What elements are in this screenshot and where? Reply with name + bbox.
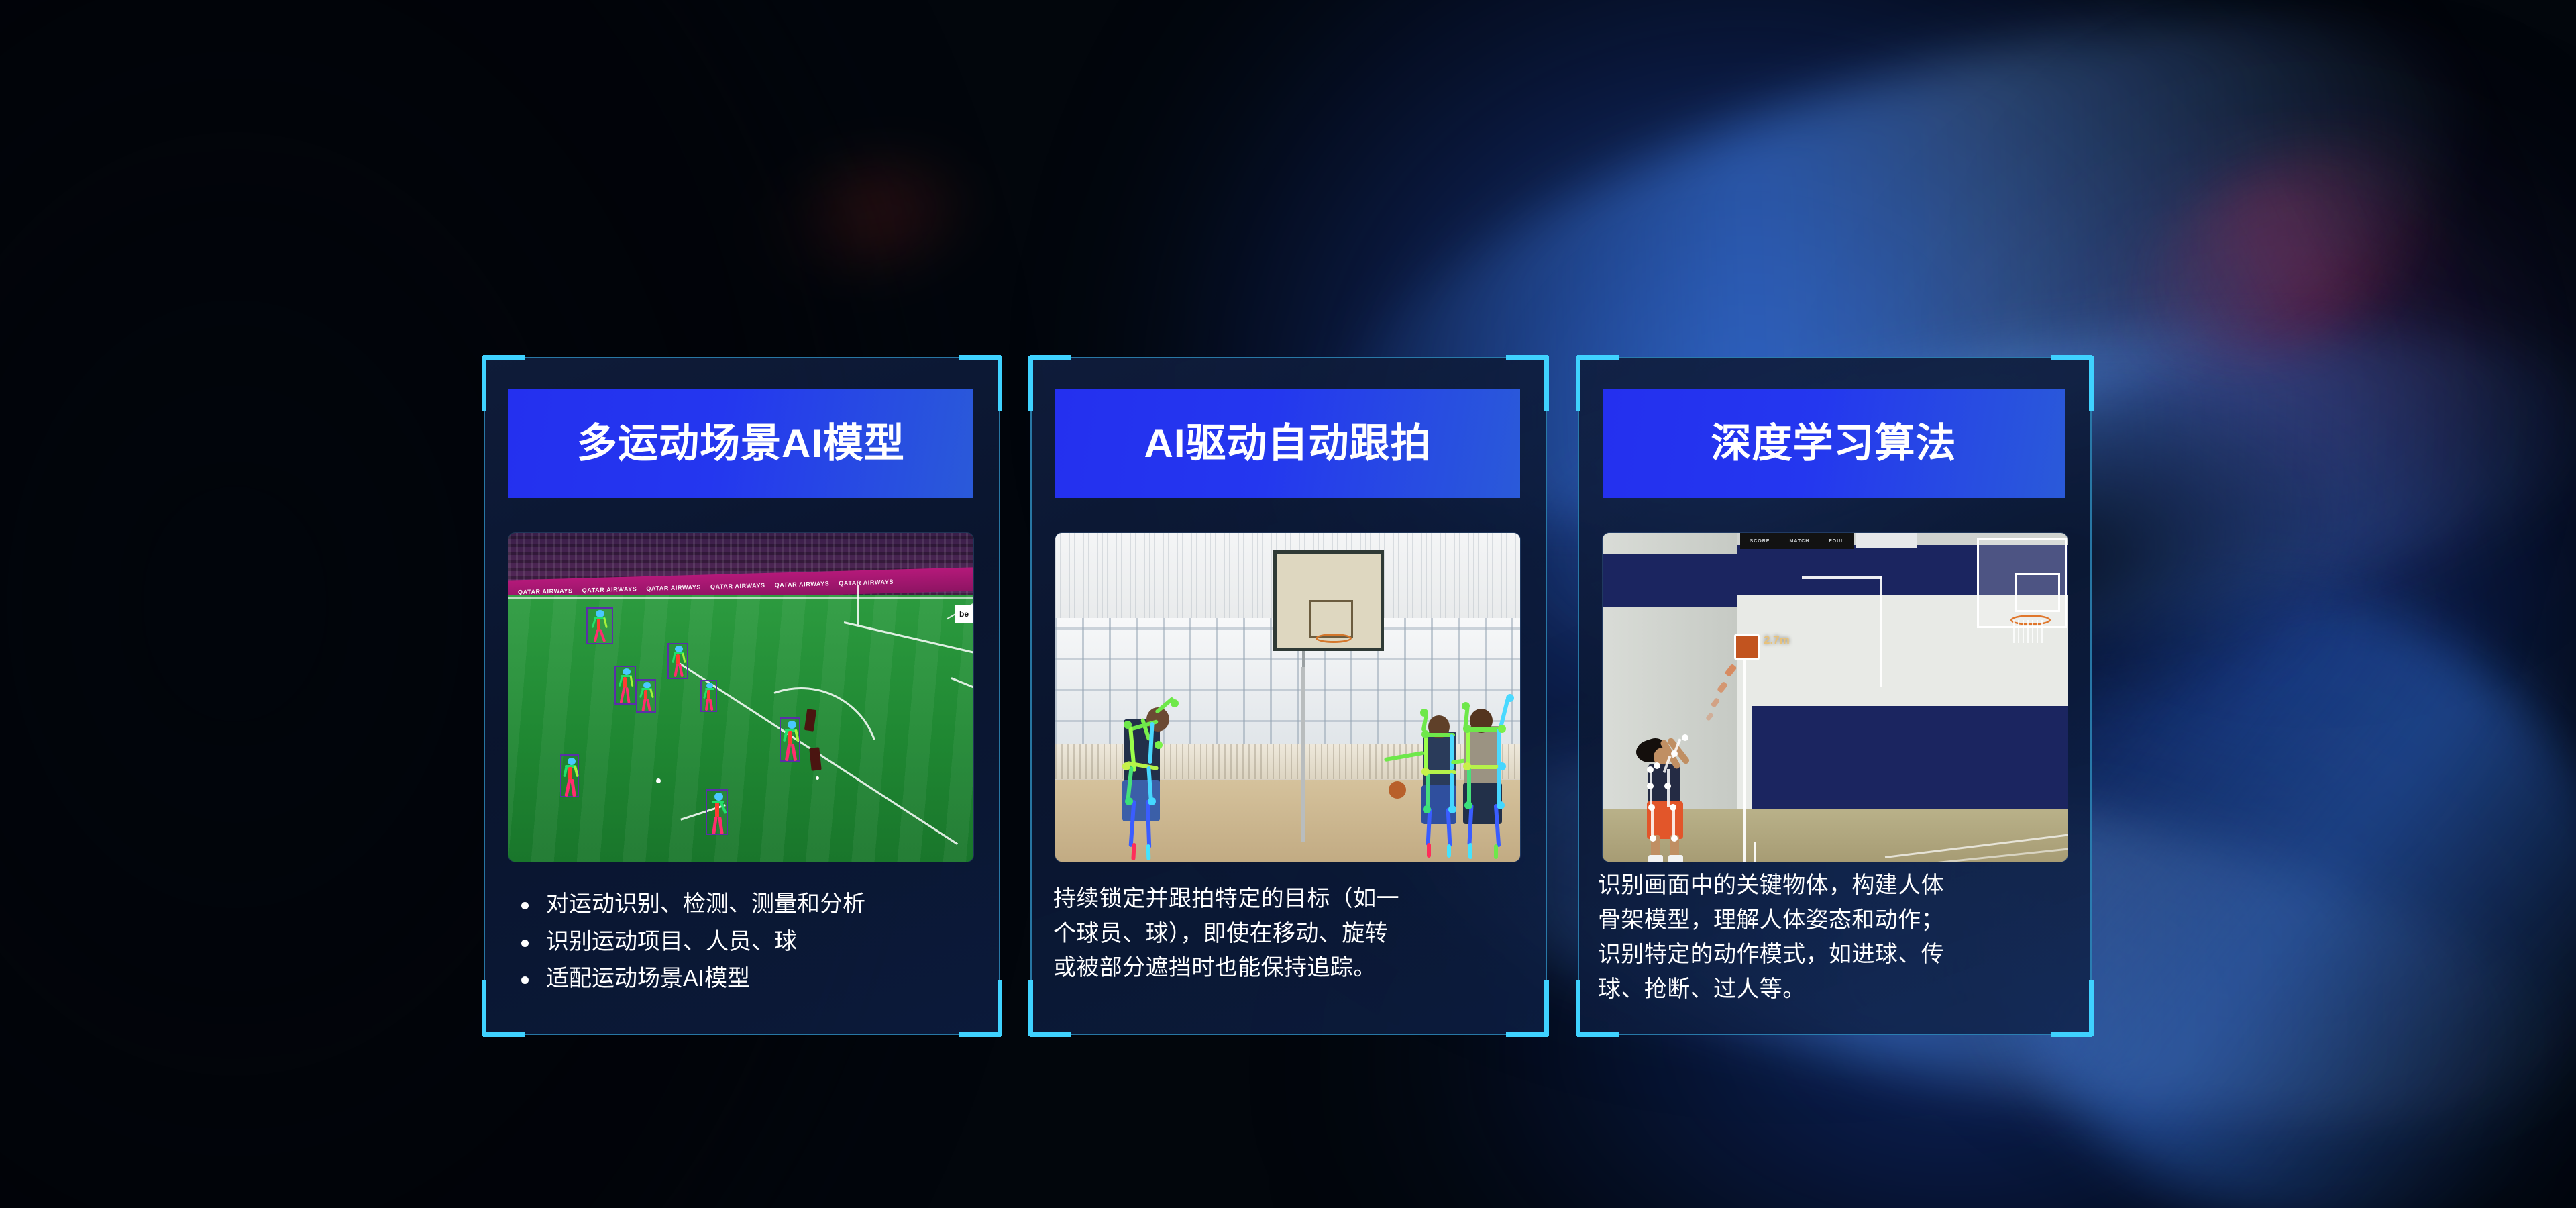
joint-node [1463,762,1471,770]
bullet-dot-icon [521,902,529,909]
detection-box [780,717,800,762]
paragraph-line: 识别特定的动作模式，如进球、传 [1598,938,2076,972]
list-item-label: 适配运动场景AI模型 [546,962,750,997]
scoreboard-label: MATCH [1790,539,1810,544]
scoreboard: SCORE MATCH FOUL [1740,533,1854,549]
wall-navy-pad-lower [1747,706,2068,813]
list-item: 对运动识别、检测、测量和分析 [511,887,977,922]
bullet-dot-icon [521,976,529,984]
joint-node [1148,797,1156,805]
basketball [1389,781,1406,799]
backboard-inner-square [1309,600,1353,638]
pose-bone [1650,769,1652,807]
joint-node [1124,721,1132,729]
joint-node [1421,768,1430,776]
joint-node [1464,801,1472,809]
joint-node [1682,734,1688,741]
sponsor-text: QATAR AIRWAYS [518,587,573,595]
sponsor-text: QATAR AIRWAYS [710,582,765,590]
card-title: 深度学习算法 [1711,423,1957,464]
backboard-inner-square [2015,573,2060,612]
football [816,776,819,780]
gym-basketball-pose-image [1055,533,1520,862]
bullet-dot-icon [521,940,529,947]
feature-bullet-list: 对运动识别、检测、测量和分析 识别运动项目、人员、球 适配运动场景AI模型 [511,887,977,997]
measure-line-vertical [1880,576,1882,687]
paragraph-line: 骨架模型，理解人体姿态和动作； [1598,903,2076,938]
paragraph-line: 持续锁定并跟拍特定的目标（如一 [1053,882,1528,917]
list-item-label: 识别运动项目、人员、球 [546,925,797,960]
card-header-deep-learning-algorithm: 深度学习算法 [1603,389,2065,498]
pitch-line-top [508,597,973,599]
tracking-line-vertical-2 [1754,842,1756,862]
scoreboard-label: FOUL [1829,539,1844,544]
basketball-rim [1316,634,1352,643]
paragraph-line: 球、抢断、过人等。 [1598,972,2076,1007]
player-skeleton-right-b [1444,694,1520,862]
card-ai-auto-tracking[interactable]: AI驱动自动跟拍 [1030,357,1547,1035]
joint-node [1498,762,1506,770]
basketball-net [2013,620,2044,643]
joint-node [1122,762,1130,770]
joint-node [1125,797,1133,805]
ball-tracking-box [1734,634,1760,660]
paragraph-line: 识别画面中的关键物体，构建人体 [1598,868,2076,903]
player-shooter [1631,734,1711,862]
detection-box [700,680,717,712]
scoreboard-extension [1856,533,1917,548]
paragraph-line: 个球员、球），即使在移动、旋转 [1053,917,1528,952]
joint-node [1506,694,1514,702]
joint-node [1462,702,1470,710]
joint-node [1497,801,1505,809]
joint-node [1420,709,1428,717]
joint-node [1463,725,1471,733]
tracking-line-vertical [1743,659,1746,862]
detection-box [706,789,728,835]
card-title: 多运动场景AI模型 [577,423,905,464]
joint-node [1155,741,1163,749]
scoreboard-label: SCORE [1750,539,1770,544]
pose-bone [1667,769,1670,807]
detection-box [667,643,688,679]
sponsor-text: QATAR AIRWAYS [582,585,637,593]
detection-box [614,666,636,705]
card-header-ai-auto-tracking: AI驱动自动跟拍 [1055,389,1520,498]
list-item-label: 对运动识别、检测、测量和分析 [546,887,865,922]
card-body-ai-auto-tracking: 持续锁定并跟拍特定的目标（如一 个球员、球），即使在移动、旋转 或被部分遮挡时也… [1053,882,1528,986]
football [656,778,661,783]
card-header-sports-ai-model: 多运动场景AI模型 [508,389,973,498]
list-item: 识别运动项目、人员、球 [511,925,977,960]
football-pose-detection-image: QATAR AIRWAYS QATAR AIRWAYS QATAR AIRWAY… [508,533,973,862]
pitch-line-penalty-v [857,585,859,625]
shot-trajectory-measure-image: SCORE MATCH FOUL [1603,533,2068,862]
sponsor-corner-badge: be [955,605,973,623]
joint-node [1423,805,1431,813]
joint-node [1498,725,1506,733]
card-body-deep-learning-algorithm: 识别画面中的关键物体，构建人体 骨架模型，理解人体姿态和动作； 识别特定的动作模… [1598,868,2076,1007]
player-skeleton-left [1114,699,1188,860]
joint-node [1654,762,1660,769]
sponsor-text: QATAR AIRWAYS [775,580,830,588]
card-title: AI驱动自动跟拍 [1144,423,1432,464]
sponsor-text: QATAR AIRWAYS [646,584,701,592]
detection-box [560,754,579,797]
gym-divider-pole [1301,667,1305,842]
detection-box [586,607,613,644]
card-sports-ai-model[interactable]: 多运动场景AI模型 QATAR AIRWAYS QATAR AIRWAYS QA… [484,357,1000,1035]
measure-label: 2.7m [1764,634,1790,647]
card-deep-learning-algorithm[interactable]: 深度学习算法 SCORE MATCH [1578,357,2092,1035]
player-shoe [1668,855,1683,862]
player-shoe [1648,855,1663,862]
list-item: 适配运动场景AI模型 [511,962,977,997]
joint-node [1171,699,1179,707]
pose-bone [1672,807,1675,838]
paragraph-line: 或被部分遮挡时也能保持追踪。 [1053,951,1528,986]
pose-bone [1651,807,1654,838]
detection-box [636,679,656,713]
measure-line-horizontal [1802,576,1882,579]
sponsor-text: QATAR AIRWAYS [839,578,894,587]
card-body-sports-ai-model: 对运动识别、检测、测量和分析 识别运动项目、人员、球 适配运动场景AI模型 [511,887,977,999]
joint-node [1421,730,1430,738]
wall-navy-band-upper-left [1603,554,1737,607]
